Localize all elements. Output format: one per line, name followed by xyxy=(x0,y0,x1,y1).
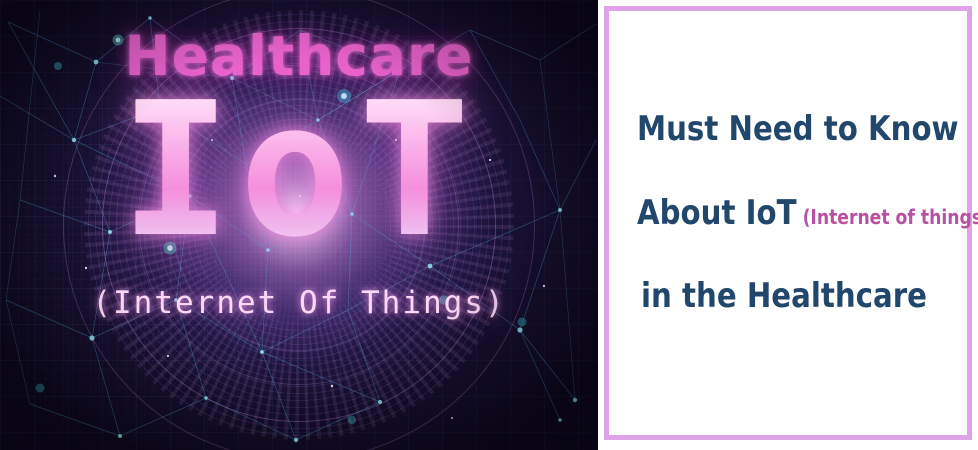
headline-panel: Must Need to Know About IoT(Internet of … xyxy=(604,6,972,440)
headline-line-2-main: About IoT xyxy=(637,193,797,233)
iot-healthcare-banner: Healthcare IoT (Internet Of Things) Must… xyxy=(0,0,978,450)
artwork-internet-of-things-subtitle: (Internet Of Things) xyxy=(0,285,598,321)
headline-line-1: Must Need to Know xyxy=(637,109,959,149)
artwork-panel: Healthcare IoT (Internet Of Things) xyxy=(0,0,598,450)
headline-line-2-parenthetical: (Internet of things) xyxy=(803,205,978,229)
headline-line-2: About IoT(Internet of things) xyxy=(637,193,978,233)
artwork-iot-acronym: IoT xyxy=(0,78,598,263)
headline-line-3: in the Healthcare xyxy=(641,276,927,316)
headline-content: Must Need to Know About IoT(Internet of … xyxy=(637,11,957,435)
